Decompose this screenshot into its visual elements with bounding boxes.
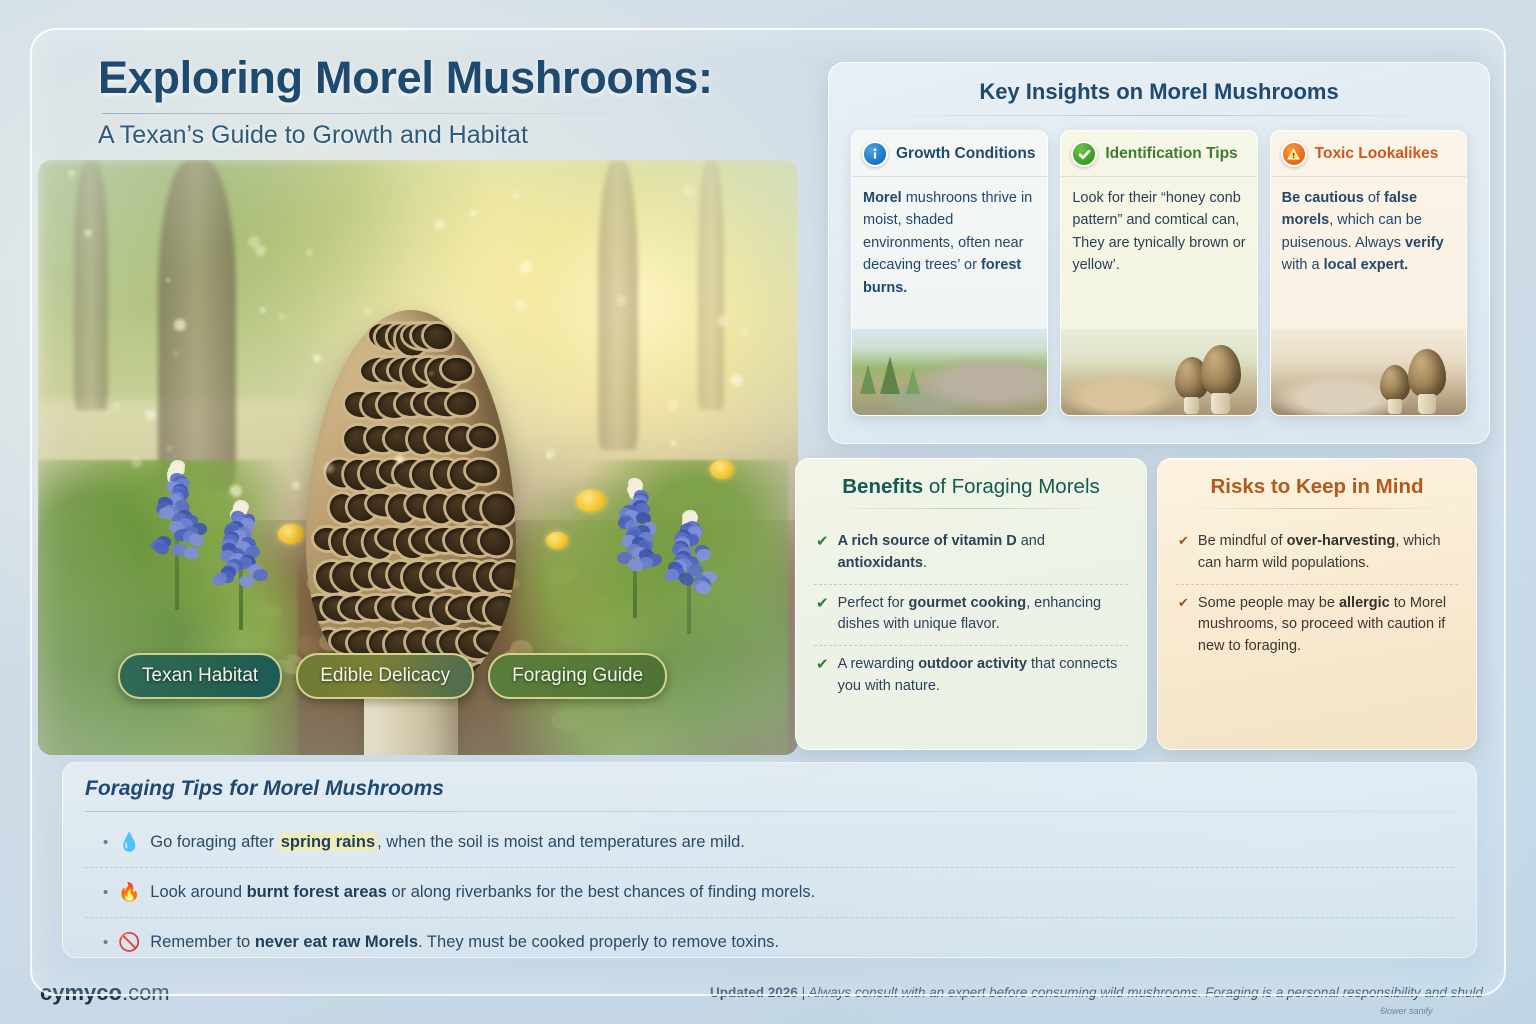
logo-tld: .com — [122, 980, 170, 1005]
bullet-icon: • — [103, 932, 108, 953]
light-bokeh — [174, 319, 186, 331]
light-bokeh — [512, 191, 520, 199]
warning-icon — [1281, 141, 1307, 167]
light-bokeh — [68, 170, 75, 177]
risks-list: ✔ Be mindful of over-harvesting, which c… — [1176, 523, 1458, 667]
tip-highlight: burnt forest areas — [247, 883, 387, 901]
yellow-wildflower — [710, 460, 734, 479]
morel-illustration — [1380, 365, 1410, 415]
tag-texan-habitat[interactable]: Texan Habitat — [118, 653, 282, 699]
tip-item: • 🔥 Look around burnt forest areas or al… — [85, 867, 1454, 917]
light-bokeh — [429, 372, 433, 376]
benefit-rest: A rewarding — [838, 656, 919, 672]
light-bokeh — [248, 236, 260, 248]
yellow-wildflower — [576, 490, 606, 512]
tree-trunk — [698, 160, 724, 410]
divider — [857, 115, 1461, 116]
light-bokeh — [470, 210, 477, 217]
benefit-item: ✔ Perfect for gourmet cooking, enhancing… — [814, 584, 1128, 646]
bluebonnet-flower — [146, 460, 208, 610]
card-title: Identification Tips — [1105, 145, 1237, 163]
tip-pre: Remember to — [150, 933, 255, 951]
benefit-bold: A rich source of vitamin D — [838, 533, 1017, 549]
benefits-title-rest: of Foraging Morels — [923, 475, 1100, 498]
morel-illustration — [1408, 349, 1446, 415]
benefit-text: Perfect for gourmet cooking, enhancing d… — [838, 593, 1126, 637]
check-mark-icon: ✔ — [816, 654, 829, 698]
benefit-item: ✔ A rewarding outdoor activity that conn… — [814, 645, 1128, 707]
morel-illustration — [1201, 345, 1241, 415]
card-body-text-3: with a — [1282, 257, 1324, 273]
fire-icon: 🔥 — [118, 880, 140, 905]
card-thumbnail-morels — [1061, 329, 1256, 415]
check-mark-icon: ✔ — [1178, 593, 1189, 658]
risk-item: ✔ Be mindful of over-harvesting, which c… — [1176, 523, 1458, 584]
tip-post: or along riverbanks for the best chances… — [387, 883, 815, 901]
footer-disclaimer-text: Always consult with an expert before con… — [808, 985, 1483, 1000]
foraging-tips-panel: Foraging Tips for Morel Mushrooms • 💧 Go… — [62, 762, 1477, 958]
yellow-wildflower — [278, 524, 304, 544]
pine-tree — [860, 364, 876, 394]
card-thumbnail-forest — [852, 329, 1047, 415]
insight-card-growth-conditions[interactable]: Growth Conditions Morel mushroons thrive… — [851, 130, 1048, 416]
card-body-lead: Morel — [863, 190, 902, 206]
tip-pre: Go foraging after — [150, 833, 278, 851]
bullet-icon: • — [103, 832, 108, 853]
benefit-text: A rich source of vitamin D and antioxida… — [838, 531, 1126, 575]
benefit-bold-2: antioxidants — [838, 555, 923, 571]
risk-text: Be mindful of over-harvesting, which can… — [1198, 531, 1456, 575]
benefit-text: A rewarding outdoor activity that connec… — [838, 654, 1126, 698]
card-title: Growth Conditions — [896, 145, 1035, 163]
info-icon — [862, 141, 888, 167]
benefit-item: ✔ A rich source of vitamin D and antioxi… — [814, 523, 1128, 584]
tip-post: , when the soil is moist and temperature… — [377, 833, 745, 851]
tip-text: Look around burnt forest areas or along … — [150, 881, 815, 904]
risk-bold: allergic — [1339, 595, 1390, 611]
check-mark-icon: ✔ — [816, 531, 829, 575]
hero-tag-list: Texan Habitat Edible Delicacy Foraging G… — [118, 653, 667, 699]
title-divider — [102, 113, 662, 114]
morel-pit — [485, 596, 516, 627]
tip-text: Remember to never eat raw Morels. They m… — [150, 931, 779, 954]
tree-trunk — [158, 160, 236, 490]
insight-card-identification-tips[interactable]: Identification Tips Look for their “hone… — [1060, 130, 1257, 416]
card-header: Toxic Lookalikes — [1271, 131, 1466, 177]
benefits-title: Benefits of Foraging Morels — [814, 475, 1128, 508]
key-insights-panel: Key Insights on Morel Mushrooms Growth C… — [828, 62, 1490, 444]
light-bokeh — [145, 410, 156, 421]
hero-image: Texan Habitat Edible Delicacy Foraging G… — [38, 160, 798, 755]
tree-trunk — [74, 160, 108, 410]
benefit-rest-2: . — [923, 555, 927, 571]
light-bokeh — [131, 457, 142, 468]
card-title: Toxic Lookalikes — [1315, 145, 1439, 163]
check-mark-icon: ✔ — [816, 593, 829, 637]
bluebonnet-flower — [664, 510, 714, 634]
risk-bold: over-harvesting — [1287, 533, 1396, 549]
page-header: Exploring Morel Mushrooms: A Texan’s Gui… — [98, 52, 713, 150]
tip-text: Go foraging after spring rains, when the… — [150, 831, 745, 854]
bluebonnet-flower — [214, 500, 268, 630]
light-bokeh — [740, 327, 749, 336]
light-bokeh — [670, 440, 677, 447]
card-header: Growth Conditions — [852, 131, 1047, 177]
light-bokeh — [515, 300, 526, 311]
divider — [1176, 508, 1458, 509]
footer-separator: | — [798, 985, 809, 1000]
light-bokeh — [319, 295, 322, 298]
light-bokeh — [230, 486, 235, 491]
benefits-list: ✔ A rich source of vitamin D and antioxi… — [814, 523, 1128, 707]
light-bokeh — [616, 295, 627, 306]
tip-item: • 🚫 Remember to never eat raw Morels. Th… — [85, 917, 1454, 967]
light-bokeh — [84, 229, 92, 237]
morel-pit — [423, 323, 452, 349]
bluebonnet-petal — [696, 582, 712, 595]
benefits-panel: Benefits of Foraging Morels ✔ A rich sou… — [795, 458, 1147, 750]
card-body-bold-3: verify — [1405, 235, 1444, 251]
logo-name: cymyco — [40, 980, 122, 1005]
risk-text: Some people may be allergic to Morel mus… — [1198, 593, 1456, 658]
benefits-title-bold: Benefits — [842, 475, 923, 498]
benefit-bold-2: outdoor activity — [918, 656, 1027, 672]
light-bokeh — [313, 354, 321, 362]
card-body-text: of — [1364, 190, 1384, 206]
divider — [814, 508, 1128, 509]
light-bokeh — [555, 404, 558, 407]
footer-updated: Updated 2026 — [710, 985, 798, 1000]
card-body: Look for their “honey conb pattern” and … — [1061, 177, 1256, 329]
light-bokeh — [683, 184, 694, 195]
benefit-rest: Perfect for — [838, 595, 909, 611]
card-body: Morel mushroons thrive in moist, shaded … — [852, 177, 1047, 329]
morel-cap — [306, 310, 516, 695]
risks-panel: Risks to Keep in Mind ✔ Be mindful of ov… — [1157, 458, 1477, 750]
check-icon — [1071, 141, 1097, 167]
tip-item: • 💧 Go foraging after spring rains, when… — [85, 818, 1454, 867]
page-subtitle: A Texan’s Guide to Growth and Habitat — [98, 121, 713, 150]
risk-item: ✔ Some people may be allergic to Morel m… — [1176, 584, 1458, 667]
bluebonnet-petal — [252, 568, 268, 582]
pine-tree — [880, 356, 900, 394]
footer-disclaimer: Updated 2026 | Always consult with an ex… — [710, 985, 1483, 1000]
risk-rest: Some people may be — [1198, 595, 1339, 611]
benefit-rest: and — [1017, 533, 1045, 549]
foraging-tips-title: Foraging Tips for Morel Mushrooms — [85, 777, 1454, 811]
tip-post: . They must be cooked properly to remove… — [418, 933, 779, 951]
tip-highlight: never eat raw Morels — [255, 933, 418, 951]
site-logo[interactable]: cymyco.com — [40, 980, 170, 1006]
divider — [85, 811, 1454, 812]
light-bokeh — [520, 261, 531, 272]
risk-rest: Be mindful of — [1198, 533, 1287, 549]
yellow-wildflower — [546, 532, 568, 549]
card-body-lead: Be cautious — [1282, 190, 1364, 206]
light-bokeh — [173, 351, 177, 355]
bluebonnet-flower — [606, 478, 664, 618]
tip-highlight: spring rains — [279, 833, 377, 851]
light-bokeh — [292, 481, 300, 489]
risks-title: Risks to Keep in Mind — [1176, 475, 1458, 508]
page-title: Exploring Morel Mushrooms: — [98, 52, 713, 104]
insight-card-list: Growth Conditions Morel mushroons thrive… — [847, 130, 1471, 416]
light-bokeh — [434, 219, 445, 230]
benefit-bold-2: gourmet cooking — [909, 595, 1027, 611]
footer-subtext: 6lower sanify — [1380, 1006, 1433, 1016]
bluebonnet-petal — [184, 547, 199, 559]
card-header: Identification Tips — [1061, 131, 1256, 177]
prohibited-icon: 🚫 — [118, 930, 140, 955]
check-mark-icon: ✔ — [1178, 531, 1189, 575]
light-bokeh — [717, 315, 729, 327]
light-bokeh — [167, 446, 172, 451]
card-body-tail: local expert. — [1324, 257, 1409, 273]
key-insights-title: Key Insights on Morel Mushrooms — [847, 79, 1471, 115]
light-bokeh — [113, 402, 120, 409]
card-body: Be cautious of false morels, which can b… — [1271, 177, 1466, 329]
tip-pre: Look around — [150, 883, 246, 901]
tag-foraging-guide[interactable]: Foraging Guide — [488, 653, 667, 699]
pine-tree — [906, 368, 920, 394]
light-bokeh — [324, 463, 334, 473]
light-bokeh — [166, 278, 170, 282]
insight-card-toxic-lookalikes[interactable]: Toxic Lookalikes Be cautious of false mo… — [1270, 130, 1467, 416]
card-thumbnail-false-morel — [1271, 329, 1466, 415]
tag-edible-delicacy[interactable]: Edible Delicacy — [296, 653, 474, 699]
bullet-icon: • — [103, 882, 108, 903]
water-droplet-icon: 💧 — [118, 830, 140, 855]
light-bokeh — [651, 325, 656, 330]
